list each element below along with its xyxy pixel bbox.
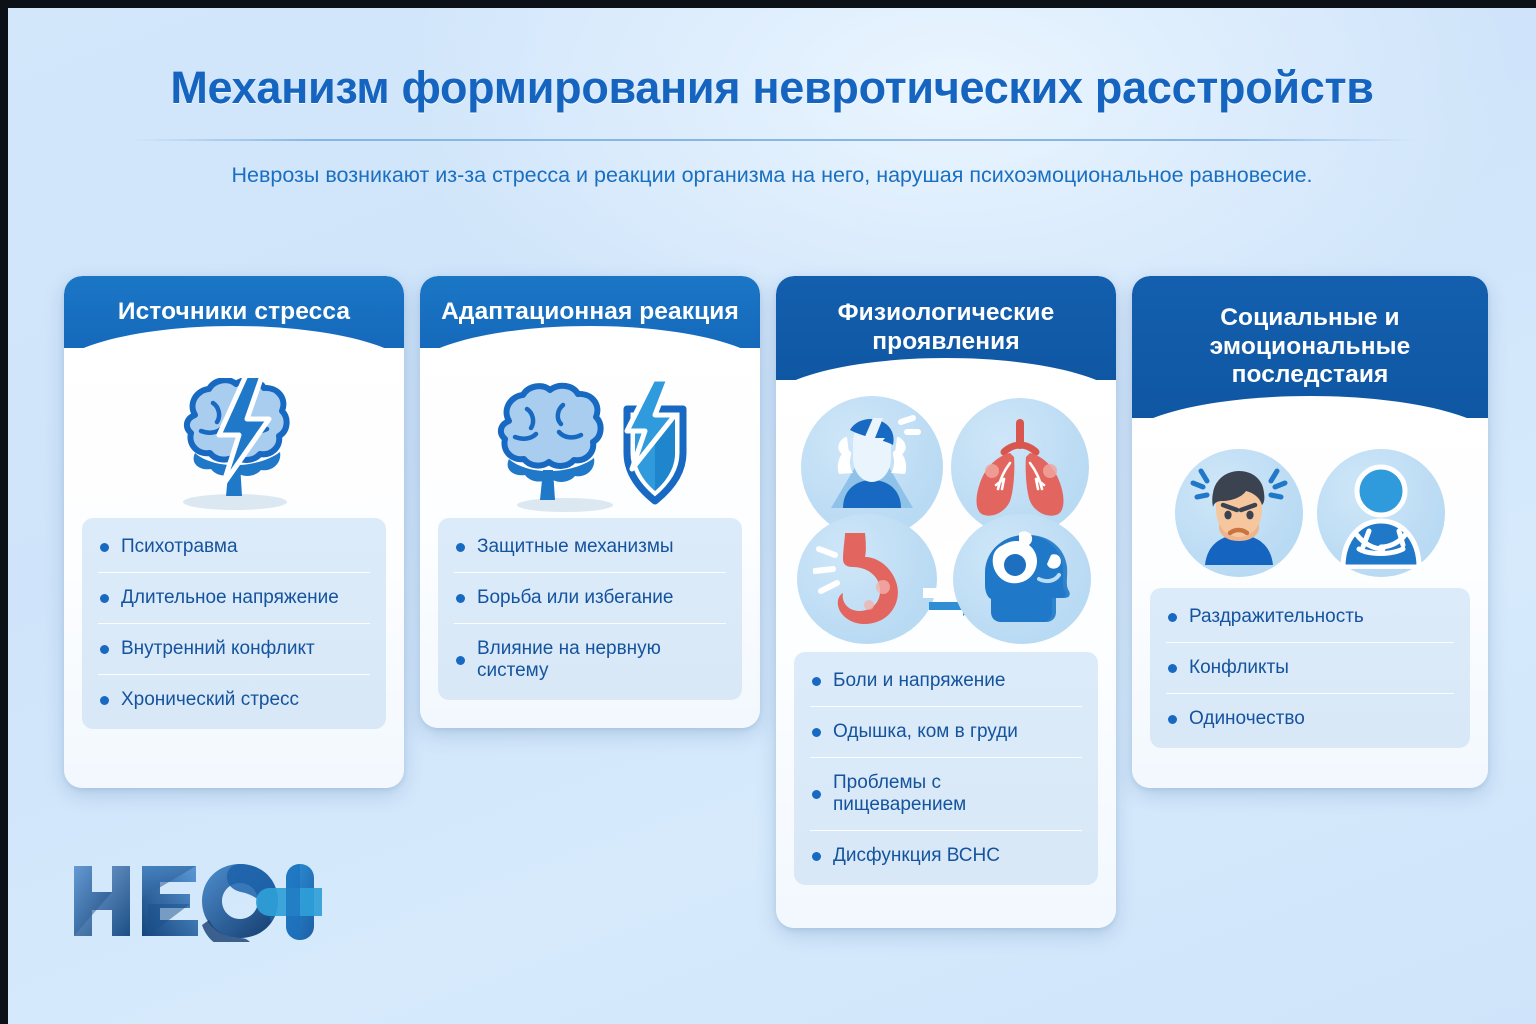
card-title: Социальные и эмоциональные последстаия — [1146, 304, 1474, 391]
list-item-label: Конфликты — [1189, 657, 1289, 679]
card-sources-of-stress[interactable]: Источники стресса Психотравма — [64, 276, 404, 788]
bullet-icon — [1168, 715, 1177, 724]
card-header-sources-of-stress: Источники стресса — [64, 276, 404, 348]
infographic-canvas: Механизм формирования невротических расс… — [8, 8, 1536, 1024]
bullet-icon — [812, 790, 821, 799]
list-item-label: Влияние на нервную систему — [477, 638, 722, 682]
physiological-icon-grid — [801, 396, 1091, 646]
angry-person-icon — [1175, 449, 1303, 577]
list-item-label: Внутренний конфликт — [121, 638, 315, 660]
list-item-label: Боли и напряжение — [833, 670, 1005, 692]
list-sources-of-stress: Психотравма Длительное напряжение Внутре… — [82, 518, 386, 729]
list-item-label: Одиночество — [1189, 708, 1305, 730]
card-title: Адаптационная реакция — [441, 298, 739, 327]
card-title: Физиологические проявления — [790, 299, 1102, 357]
page-title: Механизм формирования невротических расс… — [8, 62, 1536, 114]
list-item-label: Одышка, ком в груди — [833, 721, 1018, 743]
header-curve — [420, 332, 760, 378]
list-item[interactable]: Защитные механизмы — [454, 522, 726, 572]
bullet-icon — [812, 677, 821, 686]
brain-shield-lightning-icon — [420, 370, 760, 518]
brain-lightning-icon — [64, 370, 404, 518]
list-item-label: Борьба или избегание — [477, 587, 674, 609]
page-subtitle: Неврозы возникают из-за стресса и реакци… — [8, 163, 1536, 188]
list-item[interactable]: Внутренний конфликт — [98, 623, 370, 674]
card-title: Источники стресса — [118, 298, 350, 327]
card-adaptive-reaction[interactable]: Адаптационная реакция Защи — [420, 276, 760, 728]
card-header-physiological-manifestations: Физиологические проявления — [776, 276, 1116, 380]
brand-logo[interactable] — [70, 860, 322, 942]
list-item[interactable]: Конфликты — [1166, 642, 1454, 693]
card-social-emotional-consequences[interactable]: Социальные и эмоциональные последстаия — [1132, 276, 1488, 788]
list-social-emotional-consequences: Раздражительность Конфликты Одиночество — [1150, 588, 1470, 748]
lonely-person-icon — [1317, 449, 1445, 577]
bullet-icon — [1168, 664, 1177, 673]
social-icon-row — [1132, 438, 1488, 588]
card-physiological-manifestations[interactable]: Физиологические проявления — [776, 276, 1116, 928]
list-item[interactable]: Хронический стресс — [98, 674, 370, 725]
bullet-icon — [100, 543, 109, 552]
list-item-label: Хронический стресс — [121, 689, 299, 711]
list-adaptive-reaction: Защитные механизмы Борьба или избегание … — [438, 518, 742, 700]
list-item[interactable]: Дисфункция ВСНС — [810, 830, 1082, 881]
list-physiological-manifestations: Боли и напряжение Одышка, ком в груди Пр… — [794, 652, 1098, 885]
list-item[interactable]: Одиночество — [1166, 693, 1454, 744]
list-item[interactable]: Борьба или избегание — [454, 572, 726, 623]
list-item[interactable]: Длительное напряжение — [98, 572, 370, 623]
list-item[interactable]: Раздражительность — [1166, 592, 1454, 642]
card-header-social-emotional-consequences: Социальные и эмоциональные последстаия — [1132, 276, 1488, 418]
header: Механизм формирования невротических расс… — [8, 8, 1536, 188]
list-item-label: Дисфункция ВСНС — [833, 845, 1000, 867]
list-item[interactable]: Влияние на нервную систему — [454, 623, 726, 696]
list-item-label: Проблемы с пищеварением — [833, 772, 1078, 816]
bullet-icon — [456, 656, 465, 665]
bullet-icon — [100, 645, 109, 654]
title-divider — [130, 139, 1415, 141]
list-item[interactable]: Проблемы с пищеварением — [810, 757, 1082, 830]
list-item[interactable]: Психотравма — [98, 522, 370, 572]
bullet-icon — [456, 543, 465, 552]
header-curve — [64, 332, 404, 378]
bullet-icon — [812, 852, 821, 861]
stomach-icon — [797, 514, 937, 644]
list-item-label: Длительное напряжение — [121, 587, 339, 609]
list-item[interactable]: Одышка, ком в груди — [810, 706, 1082, 757]
bullet-icon — [100, 594, 109, 603]
card-header-adaptive-reaction: Адаптационная реакция — [420, 276, 760, 348]
header-curve — [1132, 402, 1488, 448]
list-item[interactable]: Боли и напряжение — [810, 656, 1082, 706]
list-item-label: Психотравма — [121, 536, 238, 558]
list-item-label: Раздражительность — [1189, 606, 1364, 628]
bullet-icon — [1168, 613, 1177, 622]
bullet-icon — [456, 594, 465, 603]
list-item-label: Защитные механизмы — [477, 536, 674, 558]
bullet-icon — [100, 696, 109, 705]
head-dizzy-icon — [953, 514, 1091, 644]
bullet-icon — [812, 728, 821, 737]
